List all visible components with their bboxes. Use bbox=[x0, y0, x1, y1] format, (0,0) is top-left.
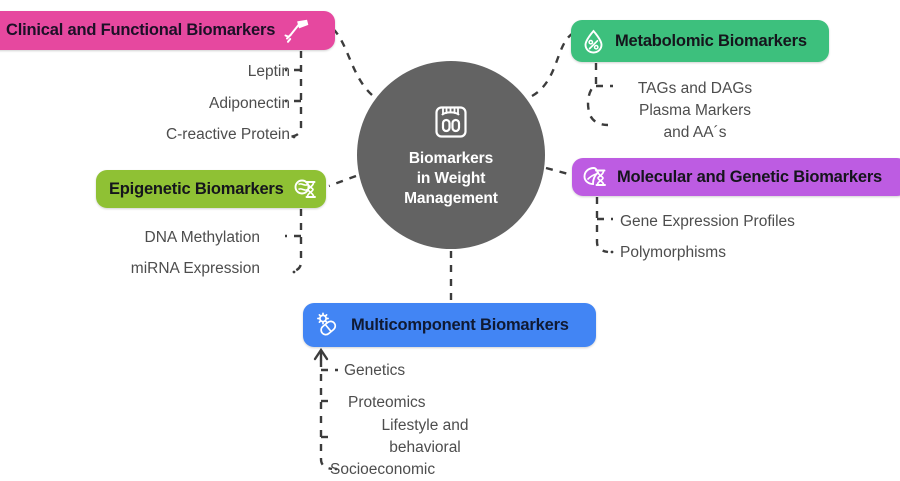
leaf-clinical-c-reactive-protein: C-reactive Protein bbox=[70, 124, 290, 146]
water-drop-percent-icon bbox=[580, 28, 607, 55]
branch-epigenetic-biomarkers[interactable]: Epigenetic Biomarkers bbox=[96, 170, 326, 208]
branch-label-molecular: Molecular and Genetic Biomarkers bbox=[617, 168, 882, 187]
leaf-multicomponent-proteomics: Proteomics bbox=[348, 392, 518, 414]
leaf-metabolomic-2: Plasma Markers bbox=[639, 102, 751, 119]
connector-hub-molecular bbox=[546, 168, 572, 175]
leaf-epigenetic-mirna-expression: miRNA Expression bbox=[60, 258, 260, 280]
mindmap-canvas: Biomarkers in Weight Management Clinical… bbox=[0, 0, 900, 479]
connector-epigenetic-spine bbox=[290, 209, 301, 272]
connector-hub-clinical bbox=[330, 26, 372, 95]
branch-label-epigenetic: Epigenetic Biomarkers bbox=[109, 180, 284, 199]
connector-molecular-spine bbox=[597, 197, 608, 252]
connector-clinical-spine bbox=[290, 51, 301, 137]
branch-clinical-and-functional-biomarkers[interactable]: Clinical and Functional Biomarkers bbox=[0, 11, 335, 50]
connector-hub-epigenetic bbox=[329, 176, 356, 186]
branch-label-multicomponent: Multicomponent Biomarkers bbox=[351, 316, 569, 335]
connector-hub-metabolomic bbox=[532, 32, 575, 96]
thermometer-icon bbox=[281, 16, 311, 46]
branch-molecular-and-genetic-biomarkers[interactable]: Molecular and Genetic Biomarkers bbox=[572, 158, 900, 196]
leaf-clinical-leptin: Leptin bbox=[90, 61, 290, 83]
branch-multicomponent-biomarkers[interactable]: Multicomponent Biomarkers bbox=[303, 303, 596, 347]
leaf-molecular-gene-expression-profiles: Gene Expression Profiles bbox=[620, 211, 850, 233]
leaf-metabolomic-3: and AA´s bbox=[664, 124, 727, 141]
hub-title: Biomarkers in Weight Management bbox=[404, 149, 498, 209]
leaf-metabolomic-1: TAGs and DAGs bbox=[638, 80, 752, 97]
leaf-epigenetic-dna-methylation: DNA Methylation bbox=[60, 227, 260, 249]
leaf-molecular-polymorphisms: Polymorphisms bbox=[620, 242, 850, 264]
weight-scale-icon bbox=[431, 102, 471, 142]
hub-node[interactable]: Biomarkers in Weight Management bbox=[357, 61, 545, 249]
microscope-dna-icon bbox=[581, 163, 609, 191]
leaf-clinical-adiponectin: Adiponectin bbox=[90, 93, 290, 115]
leaf-multicomponent-genetics: Genetics bbox=[344, 360, 514, 382]
branch-label-metabolomic: Metabolomic Biomarkers bbox=[615, 32, 807, 51]
leaf-multicomponent-socioeconomic: Socioeconomic bbox=[330, 459, 520, 481]
branch-label-clinical: Clinical and Functional Biomarkers bbox=[6, 21, 275, 40]
branch-metabolomic-biomarkers[interactable]: Metabolomic Biomarkers bbox=[571, 20, 829, 62]
gear-capsule-icon bbox=[313, 310, 343, 340]
leaf-metabolomic-items: TAGs and DAGsPlasma Markersand AA´s bbox=[600, 78, 790, 144]
dna-magnifier-icon bbox=[291, 175, 319, 203]
leaf-multicomponent-lifestyle-and-behavioral: Lifestyle and behavioral bbox=[330, 415, 520, 459]
connector-arrowhead-multicomponent bbox=[315, 350, 327, 360]
